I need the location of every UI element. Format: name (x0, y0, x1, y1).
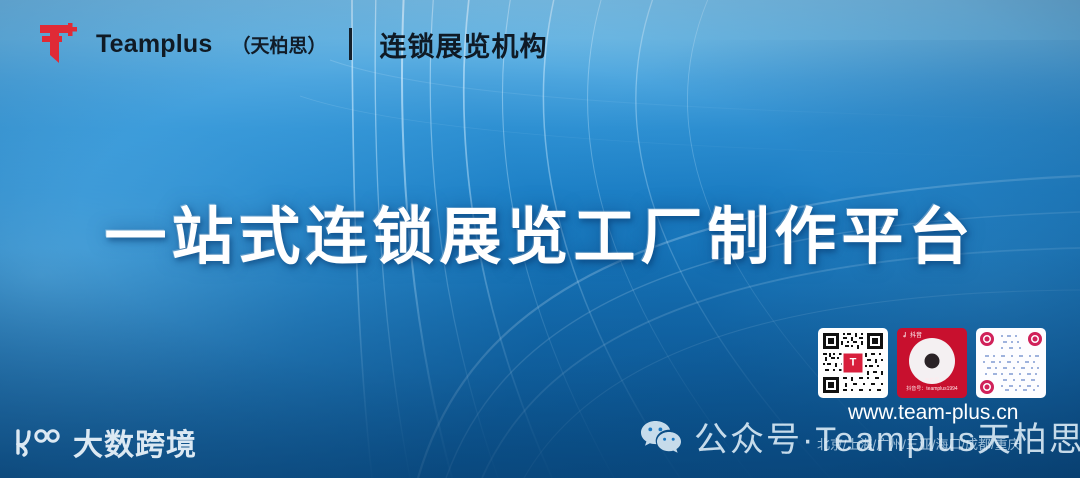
douyin-badge-label: 抖音 (910, 333, 922, 339)
qr-finder-top-left (980, 332, 994, 346)
wechat-icon (640, 419, 682, 455)
douyin-qr-pattern (909, 338, 955, 384)
brand-name: Teamplus (96, 30, 212, 59)
teamplus-t-plus-logo-icon (38, 21, 82, 67)
qr-finder-top-right (1028, 332, 1042, 346)
qr-finder-bottom-left (980, 380, 994, 394)
brand-tagline: 连锁展览机构 (379, 25, 547, 64)
qr-center-brand-icon: T (842, 352, 865, 375)
hero-headline: 一站式连锁展览工厂制作平台 (0, 186, 1080, 276)
brand-name-cn: （天柏思） (231, 31, 326, 58)
brand-divider (349, 28, 352, 60)
promo-banner: Teamplus （天柏思） 连锁展览机构 一站式连锁展览工厂制作平台 (0, 0, 1080, 478)
watermark-label: 大数跨境 (73, 420, 197, 464)
dashu-kuajing-logo-icon (12, 425, 62, 459)
douyin-qr-code[interactable]: 抖音 天柏思 抖音号：teamplus1994 (897, 328, 967, 398)
qr-code-row: T 抖音 天柏思 抖音号：teamplus1994 (818, 328, 1046, 398)
brand-header: Teamplus （天柏思） 连锁展览机构 (38, 16, 547, 72)
douyin-icon: 抖音 (902, 332, 922, 339)
wechat-account-label: 公众号·Teamplus天柏思 (694, 412, 1080, 461)
xiaohongshu-qr-code[interactable] (976, 328, 1046, 398)
wechat-official-account: 公众号·Teamplus天柏思 (640, 412, 1080, 461)
wechat-qr-code[interactable]: T (818, 328, 888, 398)
douyin-qr-caption: 天柏思 抖音号：teamplus1994 (897, 378, 967, 393)
watermark: 大数跨境 (12, 420, 197, 464)
douyin-caption-line1: 天柏思 (897, 378, 967, 386)
douyin-caption-line2: 抖音号：teamplus1994 (897, 386, 967, 394)
